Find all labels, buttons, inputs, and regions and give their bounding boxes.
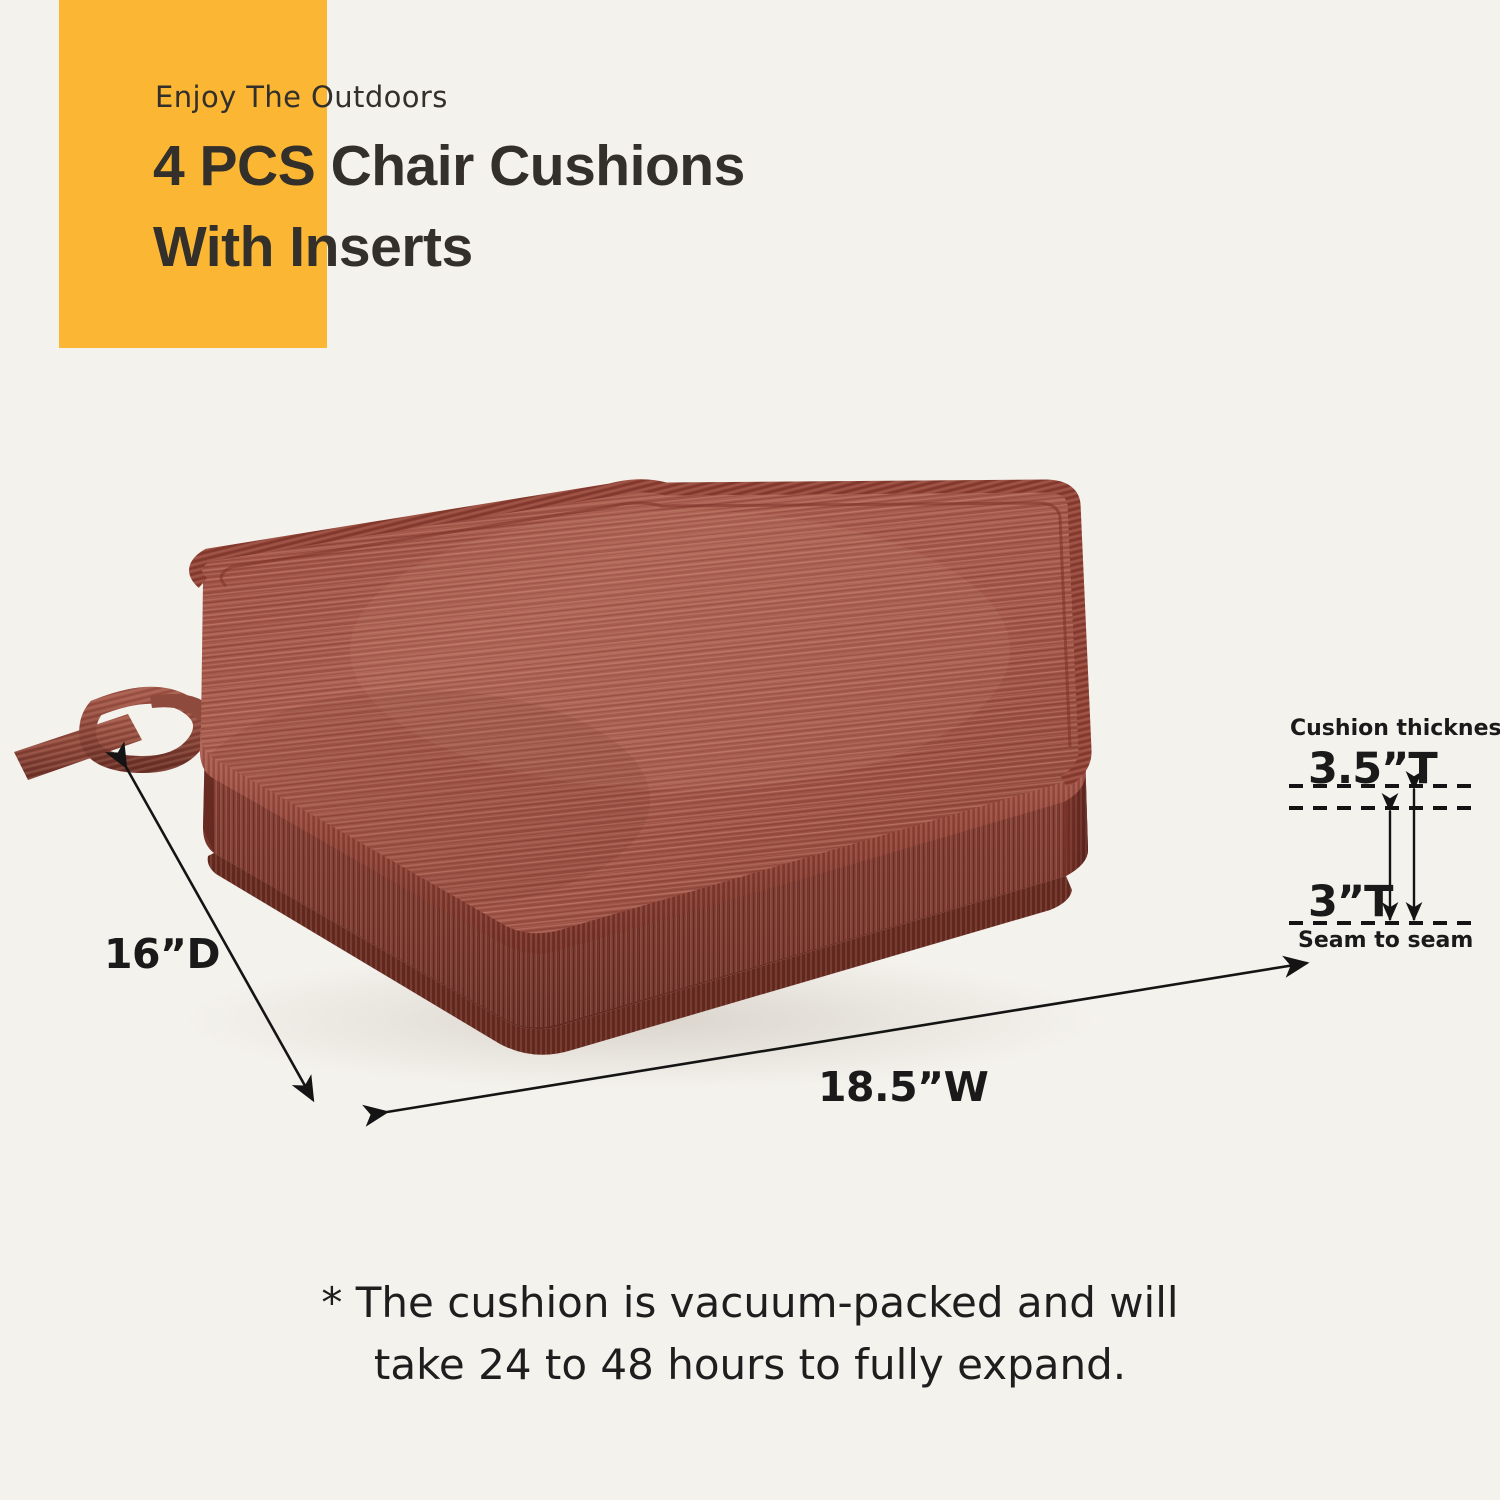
eyebrow-text: Enjoy The Outdoors (155, 80, 448, 114)
fabric-tie-loop (14, 694, 214, 780)
seam-thickness-label: 3”T (1308, 877, 1393, 927)
depth-label: 16”D (104, 930, 220, 978)
product-illustration (0, 420, 1500, 1160)
page-title: 4 PCS Chair Cushions With Inserts (153, 126, 745, 288)
width-label: 18.5”W (818, 1063, 988, 1111)
footer-note: * The cushion is vacuum-packed and will … (250, 1272, 1250, 1396)
infographic-canvas: Enjoy The Outdoors 4 PCS Chair Cushions … (0, 0, 1500, 1500)
cushion-thickness-caption: Cushion thickness (1290, 716, 1500, 741)
seam-to-seam-caption: Seam to seam (1298, 928, 1473, 953)
total-thickness-label: 3.5”T (1308, 744, 1437, 794)
